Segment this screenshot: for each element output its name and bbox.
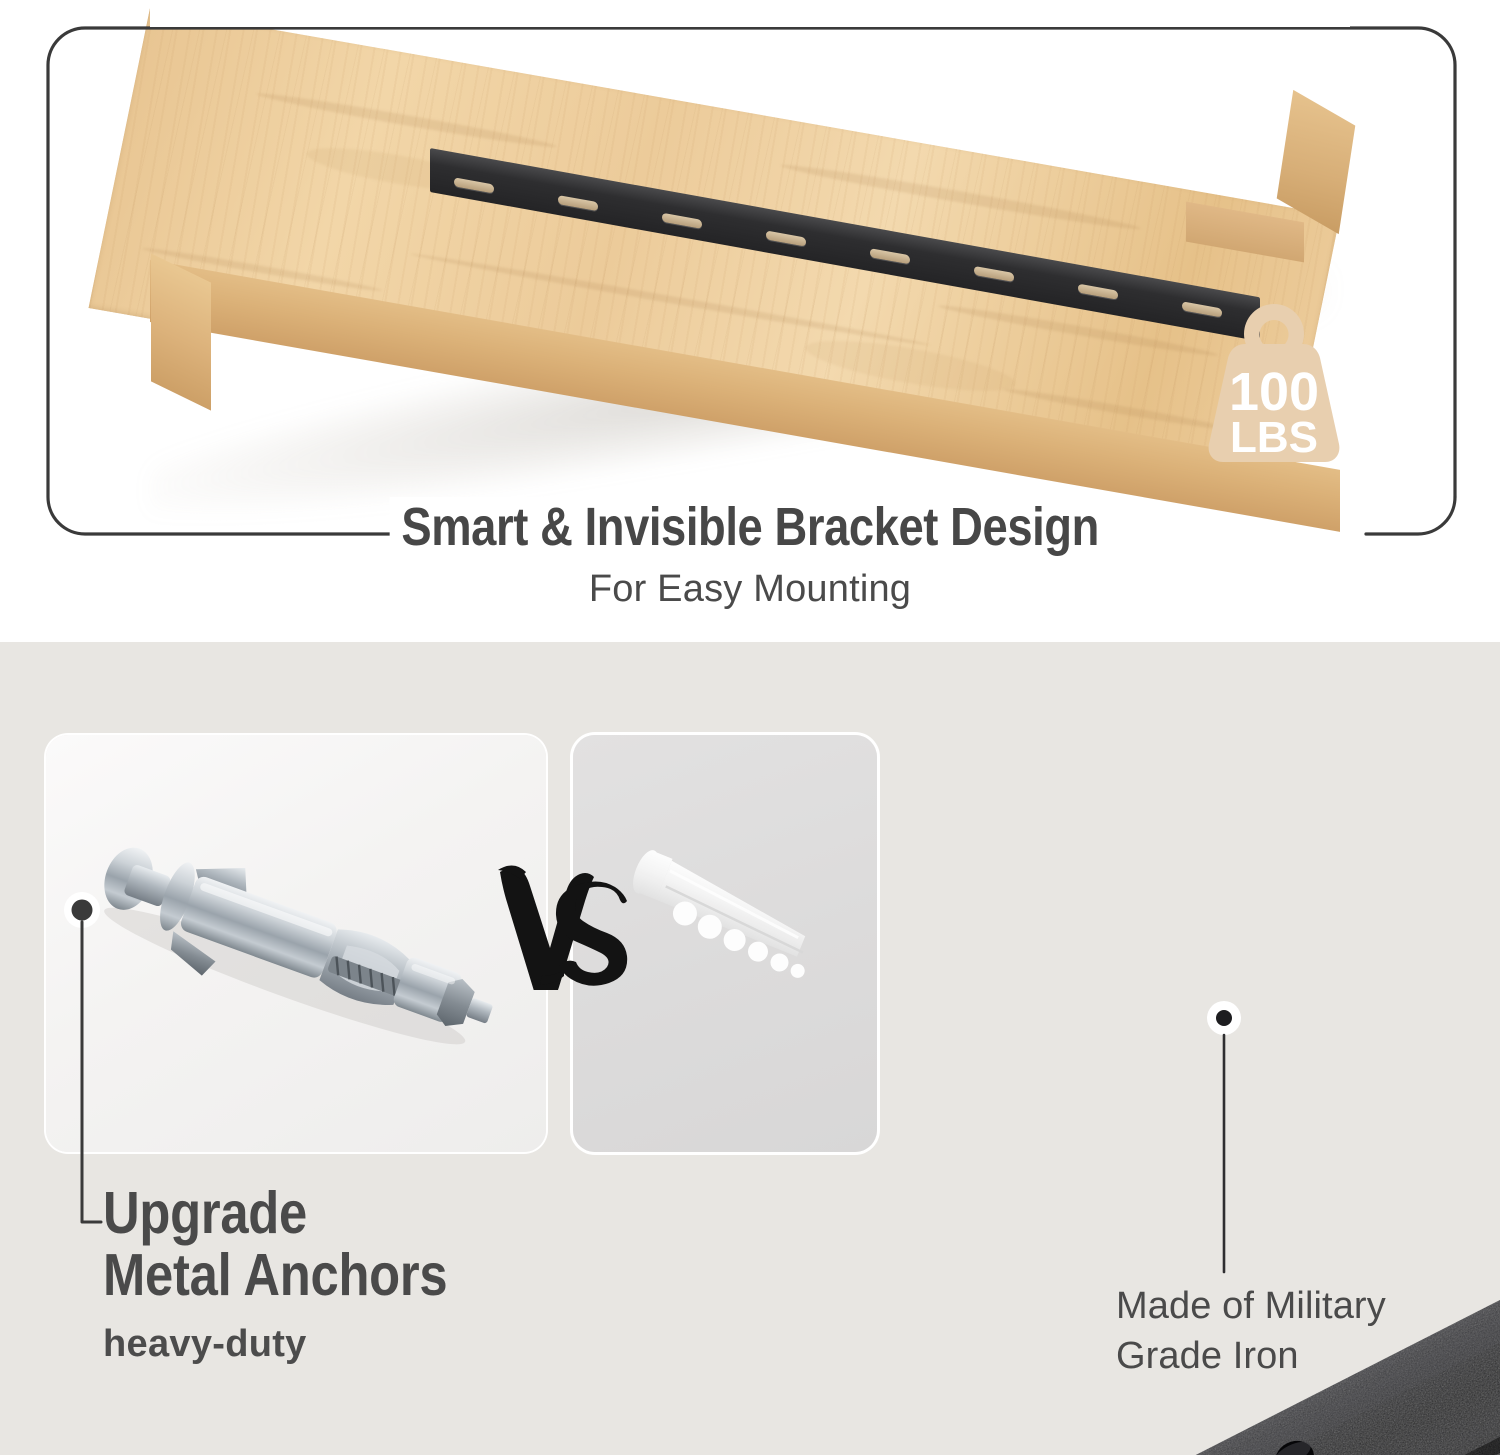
headline-container: Smart & Invisible Bracket Design <box>0 497 1500 557</box>
iron-title-line2: Grade Iron <box>1116 1331 1496 1381</box>
shelf-feature-panel: 100 LBS Smart & Invisible Bracket Design… <box>0 0 1500 642</box>
iron-title-line1: Made of Military <box>1116 1281 1496 1331</box>
page-subtitle: For Easy Mounting <box>0 566 1500 612</box>
page-title: Smart & Invisible Bracket Design <box>390 497 1111 557</box>
anchor-title-line2: Metal Anchors <box>103 1244 653 1306</box>
anchor-title-line1: Upgrade <box>103 1182 653 1244</box>
metal-anchor-image <box>76 830 516 1060</box>
metal-anchor-callout-text: Upgrade Metal Anchors heavy-duty <box>103 1182 743 1366</box>
metal-anchor-card <box>46 735 546 1152</box>
iron-callout-text: Made of Military Grade Iron <box>1116 1281 1496 1381</box>
versus-icon <box>492 858 632 990</box>
plastic-anchor-image <box>611 847 851 987</box>
anchor-subtitle: heavy-duty <box>103 1322 743 1366</box>
